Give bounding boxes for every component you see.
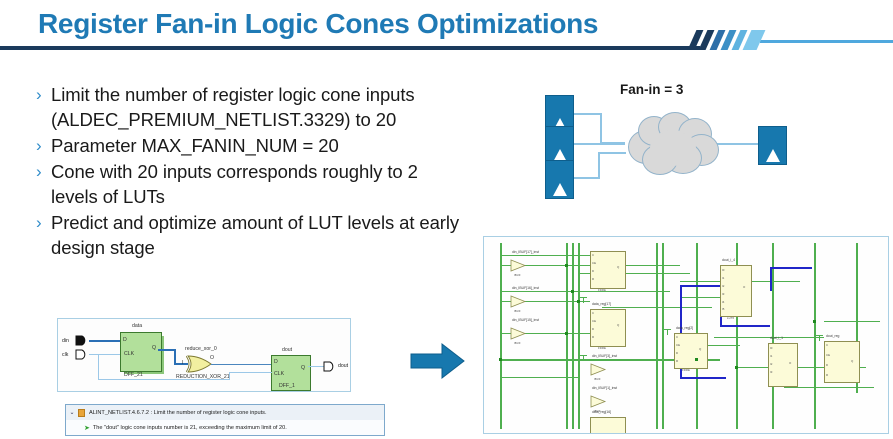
fdre-pin: C xyxy=(592,311,594,315)
net-h xyxy=(500,291,670,292)
dout-reg-block xyxy=(824,341,860,383)
clock-triangle-icon xyxy=(766,149,780,162)
lut-pin: I2 xyxy=(722,284,724,288)
lut-pin: O xyxy=(743,285,745,289)
tie-marker xyxy=(819,335,820,341)
fdre-pin: Q xyxy=(617,265,619,269)
fdre-pin: R xyxy=(826,373,828,377)
block-type-label: FDRE xyxy=(598,288,606,292)
net-h xyxy=(500,377,580,378)
fdre-pin: C xyxy=(592,253,594,257)
block-type-label: FDRE xyxy=(598,346,606,350)
fdre-pin: CE xyxy=(826,353,830,357)
block-type-label: IBUF xyxy=(514,309,521,313)
gate-name-reduce-xor: reduce_xor_0 xyxy=(185,346,217,352)
fanin-wire xyxy=(598,152,600,179)
chevron-down-icon[interactable]: ⌄ xyxy=(66,409,78,416)
pin-d: D xyxy=(123,337,127,343)
fdre-pin: Q xyxy=(617,323,619,327)
reduction-xor-gate-icon xyxy=(186,355,213,373)
lut-pin: I0 xyxy=(770,346,772,350)
fanin-wire xyxy=(572,143,625,145)
bullet-marker-icon: › xyxy=(36,82,51,107)
fdre-pin: R xyxy=(592,277,594,281)
bullet-marker-icon: › xyxy=(36,133,51,158)
clk-port-icon xyxy=(75,349,89,360)
lut-pin: I3 xyxy=(722,292,724,296)
highlight-net xyxy=(680,377,726,379)
fanin-wire xyxy=(600,113,602,143)
block-type-label: IBUF xyxy=(514,341,521,345)
instance-label: din_IBUF[16]_inst xyxy=(512,286,539,290)
lut-block xyxy=(768,343,798,387)
fanin-wire xyxy=(572,177,600,179)
fanin-wire xyxy=(572,113,602,115)
tie-marker xyxy=(583,355,584,361)
lut-pin: I2 xyxy=(770,362,772,366)
fdre-block xyxy=(590,251,626,289)
decorative-slashes xyxy=(692,30,764,50)
bullet-text: Limit the number of register logic cone … xyxy=(51,82,466,132)
slide-canvas: Register Fan-in Logic Cones Optimization… xyxy=(0,0,893,439)
tie-marker xyxy=(667,329,668,335)
pin-d2: D xyxy=(274,359,278,365)
din-port-icon xyxy=(75,335,89,346)
net-rail xyxy=(500,243,502,429)
highlight-net xyxy=(770,267,772,291)
lut-pin: I5 xyxy=(722,307,724,311)
right-netlist-schematic: din_IBUF[17]_inst IBUF din_IBUF[16]_inst… xyxy=(483,236,889,434)
net-junction xyxy=(577,300,580,303)
tie-marker xyxy=(583,297,584,303)
fdre-pin: C xyxy=(676,335,678,339)
output-register xyxy=(758,126,787,165)
message-rule-row[interactable]: ⌄ ALINT_NETLIST.4.6.7.2 : Limit the numb… xyxy=(66,405,384,421)
block-name-dout: dout xyxy=(282,347,292,353)
bullet-list: › Limit the number of register logic con… xyxy=(36,82,466,261)
net-rail xyxy=(662,243,664,429)
net-clk-branch xyxy=(98,354,99,380)
bullet-marker-icon: › xyxy=(36,210,51,235)
list-item: › Cone with 20 inputs corresponds roughl… xyxy=(36,159,466,209)
warning-icon xyxy=(78,409,85,417)
net-junction xyxy=(565,264,568,267)
instance-label: din_IBUF[15]_inst xyxy=(512,318,539,322)
fdre-pin: R xyxy=(676,359,678,363)
bullet-text: Parameter MAX_FANIN_NUM = 20 xyxy=(51,133,339,158)
fdre-pin: CE xyxy=(676,343,680,347)
lut-pin: I1 xyxy=(722,276,724,280)
port-label-clk: clk xyxy=(62,352,68,358)
net-dout xyxy=(308,366,324,367)
fdre-pin: CE xyxy=(592,261,596,265)
fdre-pin: Q xyxy=(851,359,853,363)
lut-pin: I3 xyxy=(770,370,772,374)
message-rule-text: ALINT_NETLIST.4.6.7.2 : Limit the number… xyxy=(89,410,267,416)
block-name-data: data xyxy=(132,323,142,329)
fdre-pin: D xyxy=(592,269,594,273)
instance-label: dout_i_1 xyxy=(770,336,783,340)
dout-port-icon xyxy=(323,361,337,372)
ibuf-icon xyxy=(588,395,608,408)
instance-label: din_IBUF[3]_inst xyxy=(592,354,617,358)
net-clk xyxy=(89,354,120,355)
fdre-pin: D xyxy=(592,327,594,331)
pin-q: Q xyxy=(152,345,156,351)
instance-label: data_reg[17] xyxy=(592,302,611,306)
input-register-3 xyxy=(545,160,574,199)
bullet-text: Predict and optimize amount of LUT level… xyxy=(51,210,466,260)
fdre-pin: C xyxy=(826,343,828,347)
transform-arrow-icon xyxy=(409,341,467,381)
block-type-label: FDRE xyxy=(682,368,690,372)
lut-pin: I4 xyxy=(722,300,724,304)
list-item: › Limit the number of register logic con… xyxy=(36,82,466,132)
block-type-label: IBUF xyxy=(514,273,521,277)
fdre-pin: CE xyxy=(592,319,596,323)
net-clk-branch xyxy=(98,379,230,380)
bullet-marker-icon: › xyxy=(36,159,51,184)
net-h xyxy=(784,387,874,388)
block-type-label: IBUF xyxy=(594,377,601,381)
highlight-net xyxy=(770,267,812,269)
net-junction xyxy=(735,366,738,369)
message-detail-row[interactable]: ➤ The "dout" logic cone inputs number is… xyxy=(66,420,384,435)
net-rail xyxy=(572,243,574,429)
pin-clk2: CLK xyxy=(274,371,284,377)
fdre-pin: R xyxy=(592,335,594,339)
block-type-dff1: DFF_1 xyxy=(279,383,295,389)
ibuf-icon xyxy=(588,363,608,376)
ibuf-icon xyxy=(508,259,528,272)
instance-label: dout_reg xyxy=(826,334,839,338)
fanin-diagram: Fan-in = 3 xyxy=(545,82,893,204)
fanin-wire xyxy=(715,143,759,145)
net-rail xyxy=(656,243,658,429)
net-h xyxy=(824,321,880,322)
ibuf-icon xyxy=(508,295,528,308)
fdre-pin: Q xyxy=(699,347,701,351)
port-label-dout: dout xyxy=(338,363,348,369)
gate-pin-o: O xyxy=(210,355,214,361)
lut-pin: I1 xyxy=(770,354,772,358)
fdre-block xyxy=(590,417,626,434)
net-rail xyxy=(566,243,568,429)
port-label-din: din xyxy=(62,338,69,344)
logic-cloud-icon xyxy=(620,112,720,174)
block-type-label: LUT6 xyxy=(727,316,734,320)
title-rule xyxy=(0,46,700,50)
list-item: › Parameter MAX_FANIN_NUM = 20 xyxy=(36,133,466,158)
pin-clk: CLK xyxy=(124,351,134,357)
net-junction xyxy=(565,332,568,335)
gate-pin-i: I xyxy=(182,360,183,366)
fdre-pin: D xyxy=(826,363,828,367)
fdre-block xyxy=(674,333,708,369)
lut-pin: I0 xyxy=(722,268,724,272)
instance-label: din_IBUF[17]_inst xyxy=(512,250,539,254)
message-panel[interactable]: ⌄ ALINT_NETLIST.4.6.7.2 : Limit the numb… xyxy=(65,404,385,436)
net-junction xyxy=(695,358,698,361)
page-title: Register Fan-in Logic Cones Optimization… xyxy=(38,8,598,40)
net-junction xyxy=(571,290,574,293)
highlight-net xyxy=(680,285,722,287)
bullet-text: Cone with 20 inputs corresponds roughly … xyxy=(51,159,466,209)
fdre-block xyxy=(590,309,626,347)
net-clk-branch xyxy=(229,372,272,373)
net-rail xyxy=(578,243,580,429)
instance-label: data_reg[2] xyxy=(676,326,693,330)
title-rule-light xyxy=(760,40,893,43)
clock-triangle-icon xyxy=(553,183,567,196)
instance-label: din_IBUF[1]_inst xyxy=(592,386,617,390)
net-rail xyxy=(814,243,816,429)
net-h xyxy=(714,337,824,338)
instance-label: dout_i_4 xyxy=(722,258,735,262)
net-din xyxy=(89,340,120,342)
detail-arrow-icon: ➤ xyxy=(84,424,90,432)
net-data-q xyxy=(174,349,176,364)
fanin-label: Fan-in = 3 xyxy=(620,82,683,97)
pin-q2: Q xyxy=(301,365,305,371)
lut6-block xyxy=(720,265,752,317)
ibuf-icon xyxy=(508,327,528,340)
left-schematic-diagram: din clk data DFF_21 D CLK Q reduce_xor_0… xyxy=(57,318,351,392)
net-xor-out xyxy=(211,364,271,365)
net-junction xyxy=(813,320,816,323)
net-clk-branch xyxy=(229,372,230,380)
list-item: › Predict and optimize amount of LUT lev… xyxy=(36,210,466,260)
net-h xyxy=(500,255,590,256)
fdre-pin: D xyxy=(676,351,678,355)
net-junction xyxy=(499,358,502,361)
instance-label: data_reg[16] xyxy=(592,410,611,414)
block-type-dff21: DFF_21 xyxy=(124,372,143,378)
message-detail-text: The "dout" logic cone inputs number is 2… xyxy=(93,425,287,431)
highlight-net xyxy=(720,325,770,327)
lut-pin: O xyxy=(789,361,791,365)
